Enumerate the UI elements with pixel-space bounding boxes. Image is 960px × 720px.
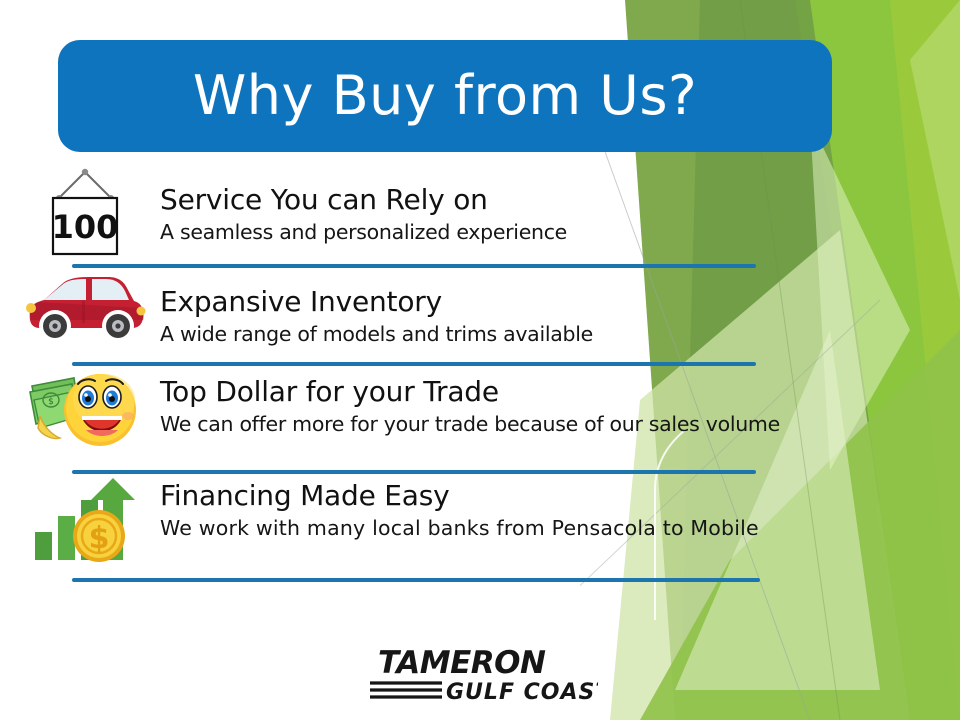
logo-primary-text: TAMERON [378, 645, 546, 681]
title-banner: Why Buy from Us? [58, 40, 832, 152]
red-car-icon [0, 268, 160, 344]
benefit-heading: Expansive Inventory [160, 284, 920, 317]
benefit-subtext: A seamless and personalized experience [160, 220, 920, 245]
benefit-row-trade: $ [0, 366, 960, 474]
logo-speed-lines [370, 683, 442, 697]
benefits-list: 100 Service You can Rely on A seamless a… [0, 168, 960, 582]
benefit-heading: Service You can Rely on [160, 184, 920, 215]
benefit-row-service: 100 Service You can Rely on A seamless a… [0, 168, 960, 268]
benefit-subtext: We work with many local banks from Pensa… [160, 516, 920, 541]
growth-chart-coin-icon: $ [0, 474, 160, 566]
benefit-heading: Top Dollar for your Trade [160, 374, 920, 407]
logo-secondary-text: GULF COAST [446, 680, 598, 705]
row-divider [72, 578, 760, 582]
page-title: Why Buy from Us? [193, 69, 697, 123]
benefit-row-financing: $ Financing Made Easy We work with many … [0, 474, 960, 582]
benefit-heading: Financing Made Easy [160, 478, 920, 511]
svg-text:100: 100 [52, 208, 119, 246]
benefit-subtext: We can offer more for your trade because… [160, 412, 920, 437]
slide-canvas: Why Buy from Us? 100 Se [0, 0, 960, 720]
benefit-row-inventory: Expansive Inventory A wide range of mode… [0, 268, 960, 366]
benefit-subtext: A wide range of models and trims availab… [160, 322, 920, 347]
smiley-with-money-icon: $ [0, 366, 160, 450]
tameron-gulf-coast-logo: TAMERON GULF COAST [352, 636, 608, 712]
svg-text:$: $ [48, 397, 54, 407]
price-sign-100-icon: 100 [0, 168, 160, 258]
svg-text:$: $ [89, 521, 110, 556]
